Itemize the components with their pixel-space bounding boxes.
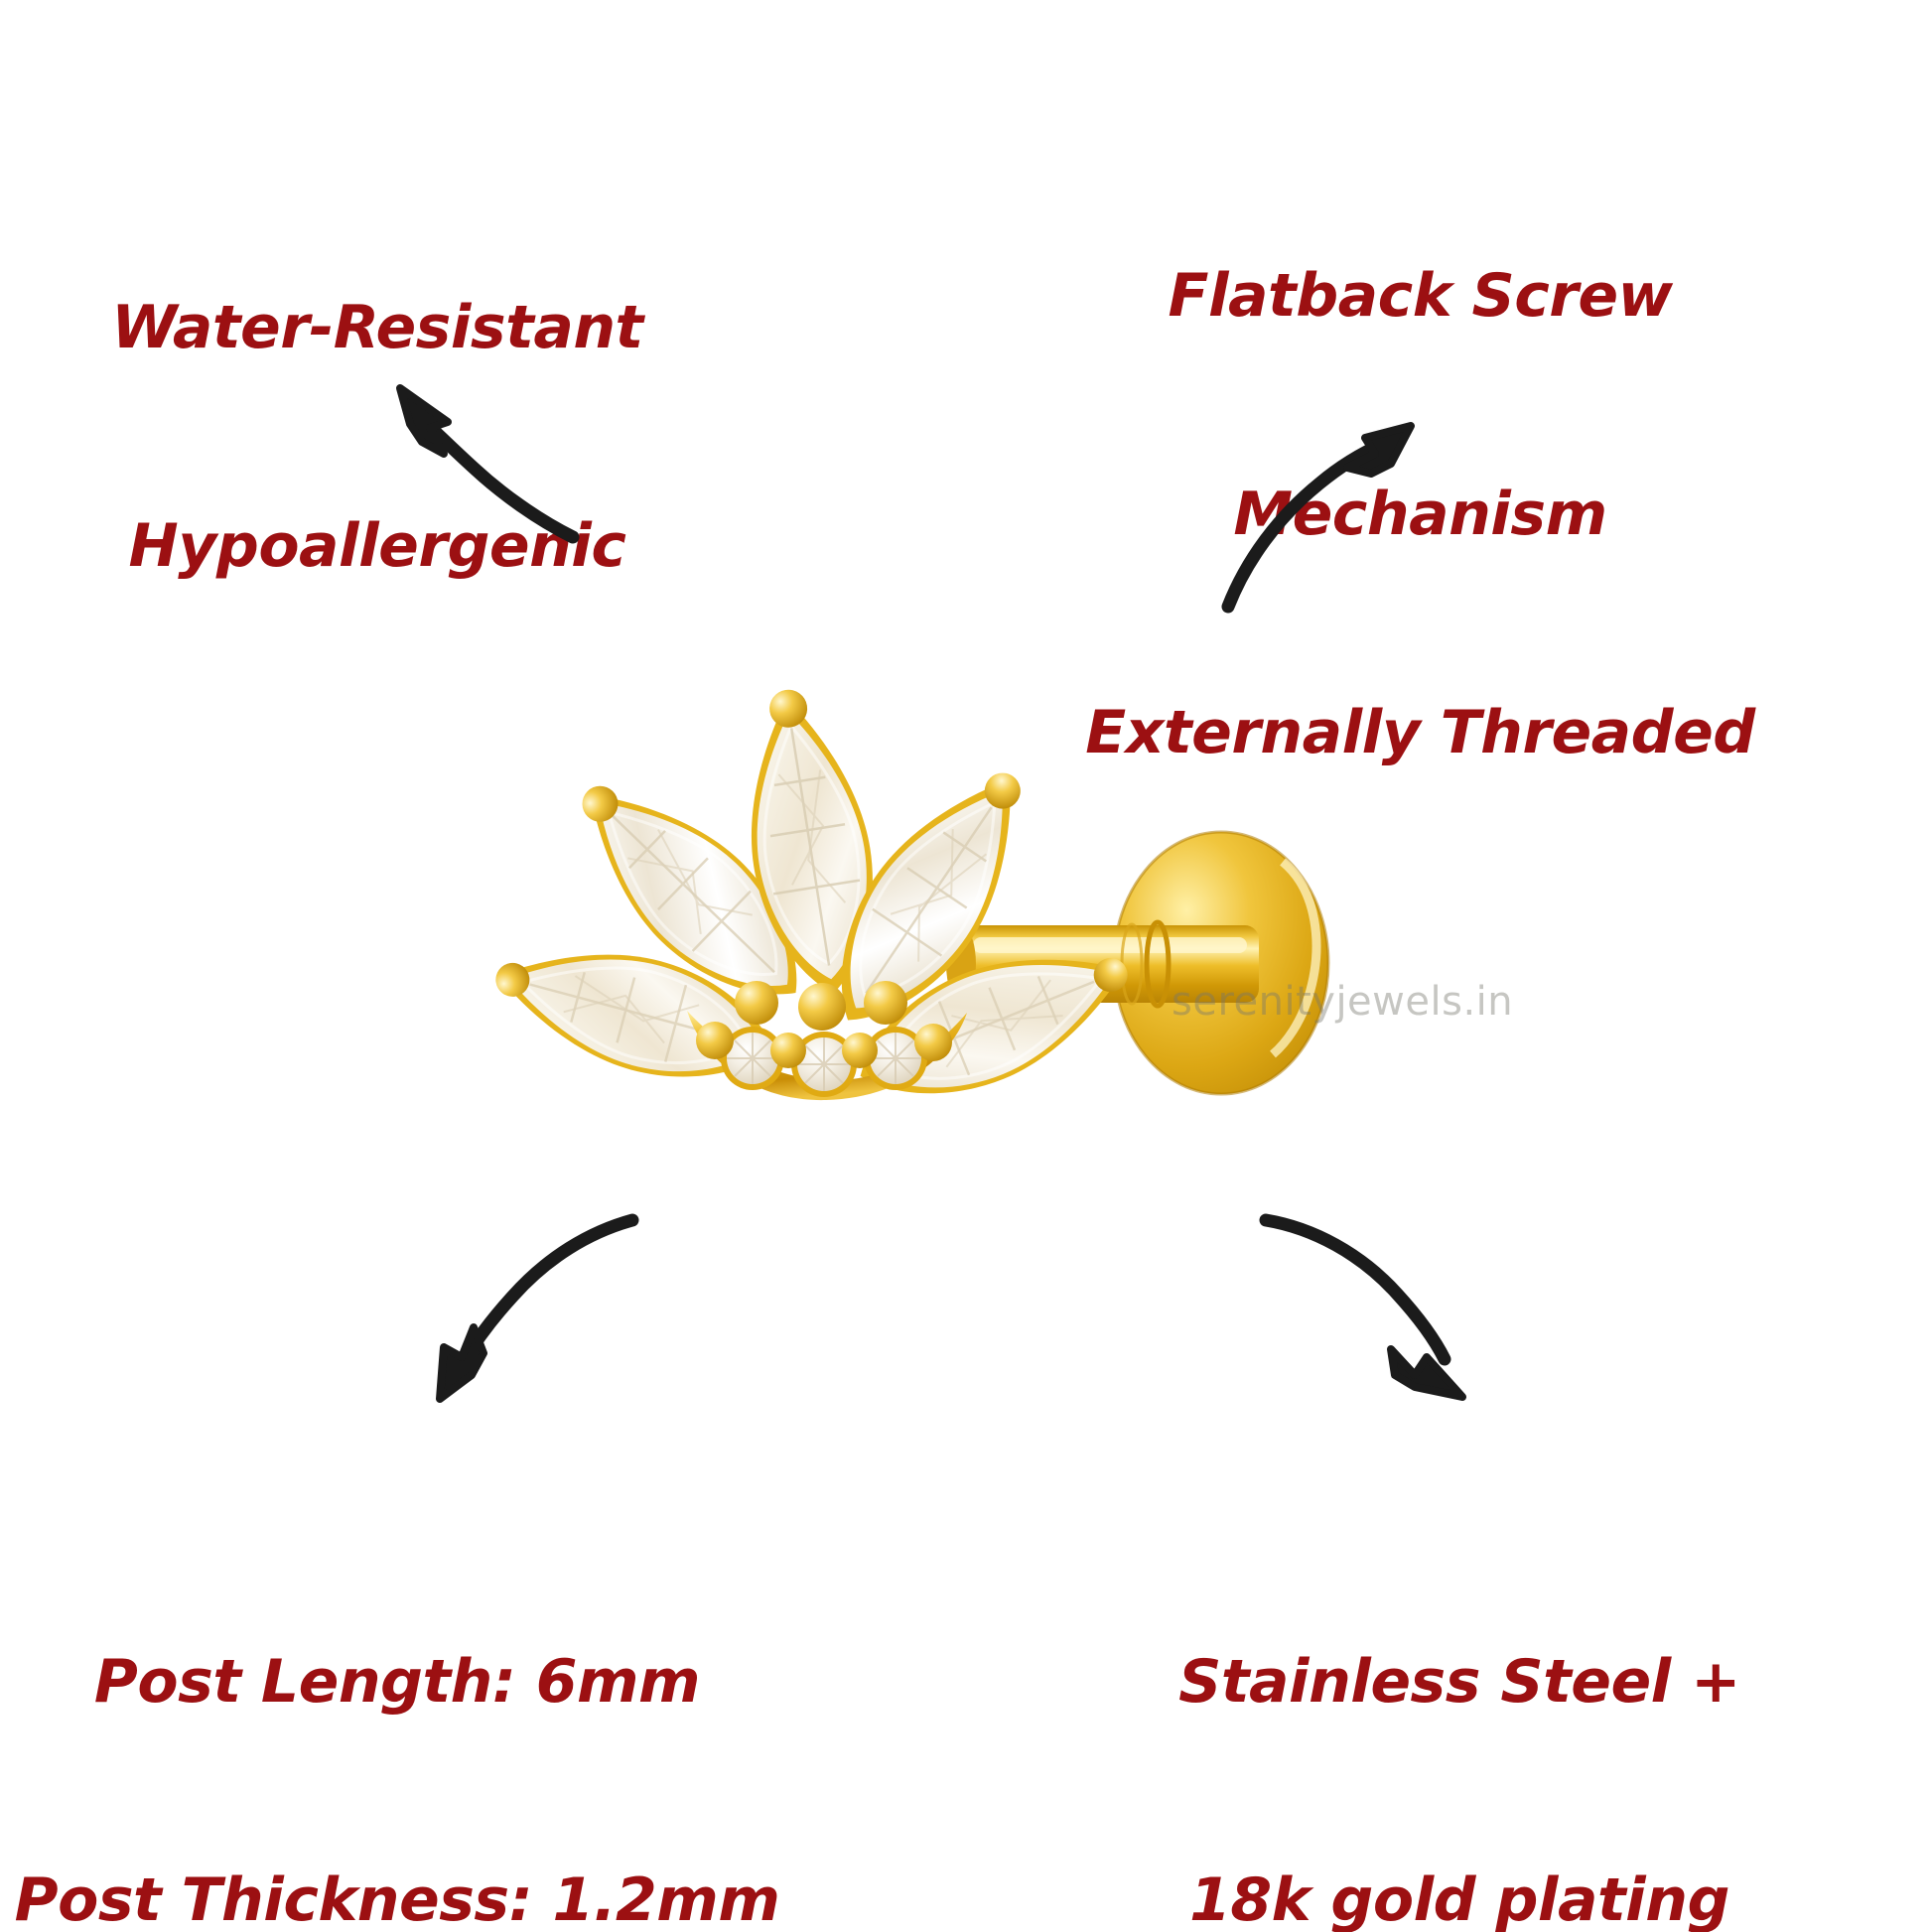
callout-material: Stainless Steel + 18k gold plating xyxy=(1172,1501,1747,1932)
prong-bead xyxy=(770,1033,806,1068)
prong-bead xyxy=(842,1033,878,1068)
callout-line: Post Thickness: 1.2mm xyxy=(0,1864,794,1932)
arrow-up-right-icon xyxy=(1216,412,1464,611)
post-highlight xyxy=(973,937,1247,953)
callout-line: 18k gold plating xyxy=(1172,1864,1747,1932)
arrow-up-left-icon xyxy=(352,343,581,541)
product-image xyxy=(437,596,1440,1211)
lotus-stone-cluster xyxy=(482,681,1147,1129)
arrow-down-left-icon xyxy=(392,1206,640,1415)
infographic-canvas: Water-Resistant Hypoallergenic Flatback … xyxy=(0,0,1932,1932)
callout-dimensions: Post Length: 6mm Post Thickness: 1.2mm S… xyxy=(0,1501,794,1932)
prong-bead xyxy=(696,1022,734,1059)
callout-line: Stainless Steel + xyxy=(1172,1646,1747,1719)
callout-line: Flatback Screw xyxy=(908,260,1932,333)
prong-bead xyxy=(864,981,907,1025)
lotus-flatback-stud-illustration xyxy=(437,596,1440,1211)
arrow-down-right-icon xyxy=(1256,1206,1504,1415)
callout-line: Post Length: 6mm xyxy=(0,1646,794,1719)
prong-bead xyxy=(798,983,846,1031)
prong-bead xyxy=(735,981,778,1025)
prong-bead xyxy=(914,1024,952,1061)
